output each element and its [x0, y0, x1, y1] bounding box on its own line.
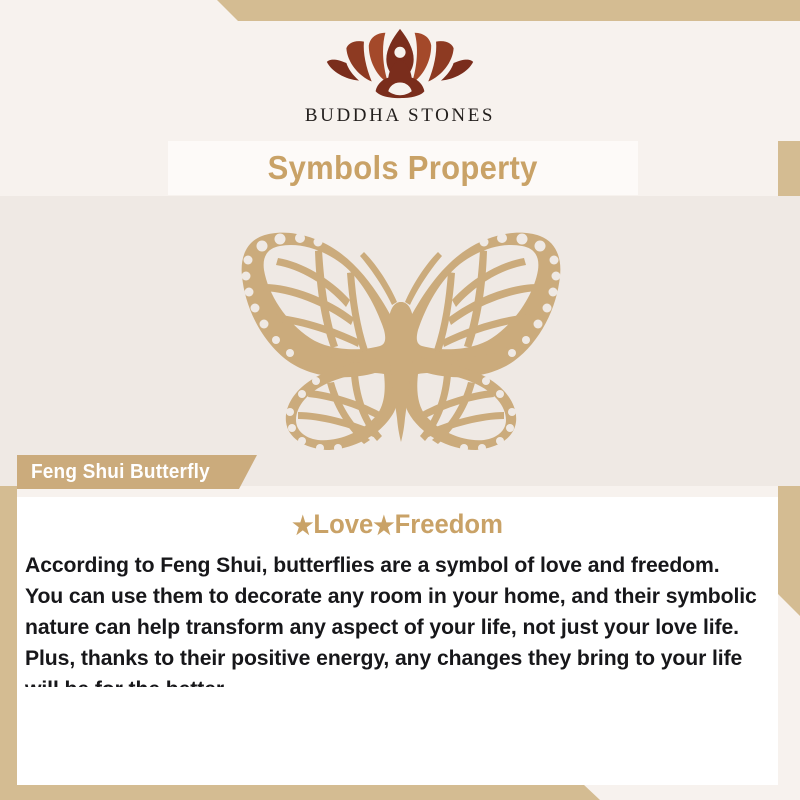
- illustration-panel: [0, 196, 800, 486]
- star-icon-left: ★: [292, 512, 313, 540]
- description-body: According to Feng Shui, butterflies are …: [25, 550, 759, 705]
- feng-shui-butterfly-tag: Feng Shui Butterfly: [17, 455, 257, 489]
- frame-bottom-accent: [0, 784, 800, 800]
- footer-spacer: [17, 687, 778, 785]
- product-info-card: BUDDHA STONES Symbols Property: [0, 0, 800, 800]
- brand-header: BUDDHA STONES: [0, 21, 800, 141]
- brand-name: BUDDHA STONES: [305, 105, 495, 127]
- page-title-band: Symbols Property: [168, 141, 638, 195]
- star-icon-middle: ★: [373, 512, 394, 540]
- tag-label: Feng Shui Butterfly: [31, 461, 210, 484]
- description-panel: ★Love★Freedom According to Feng Shui, bu…: [17, 497, 778, 687]
- frame-top-accent: [0, 0, 800, 21]
- page-title: Symbols Property: [268, 149, 538, 187]
- tagline-word-freedom: Freedom: [395, 509, 503, 539]
- butterfly-icon: [218, 222, 584, 450]
- tagline-word-love: Love: [313, 509, 373, 539]
- lotus-meditation-icon: [315, 25, 485, 103]
- tagline: ★Love★Freedom: [36, 509, 759, 541]
